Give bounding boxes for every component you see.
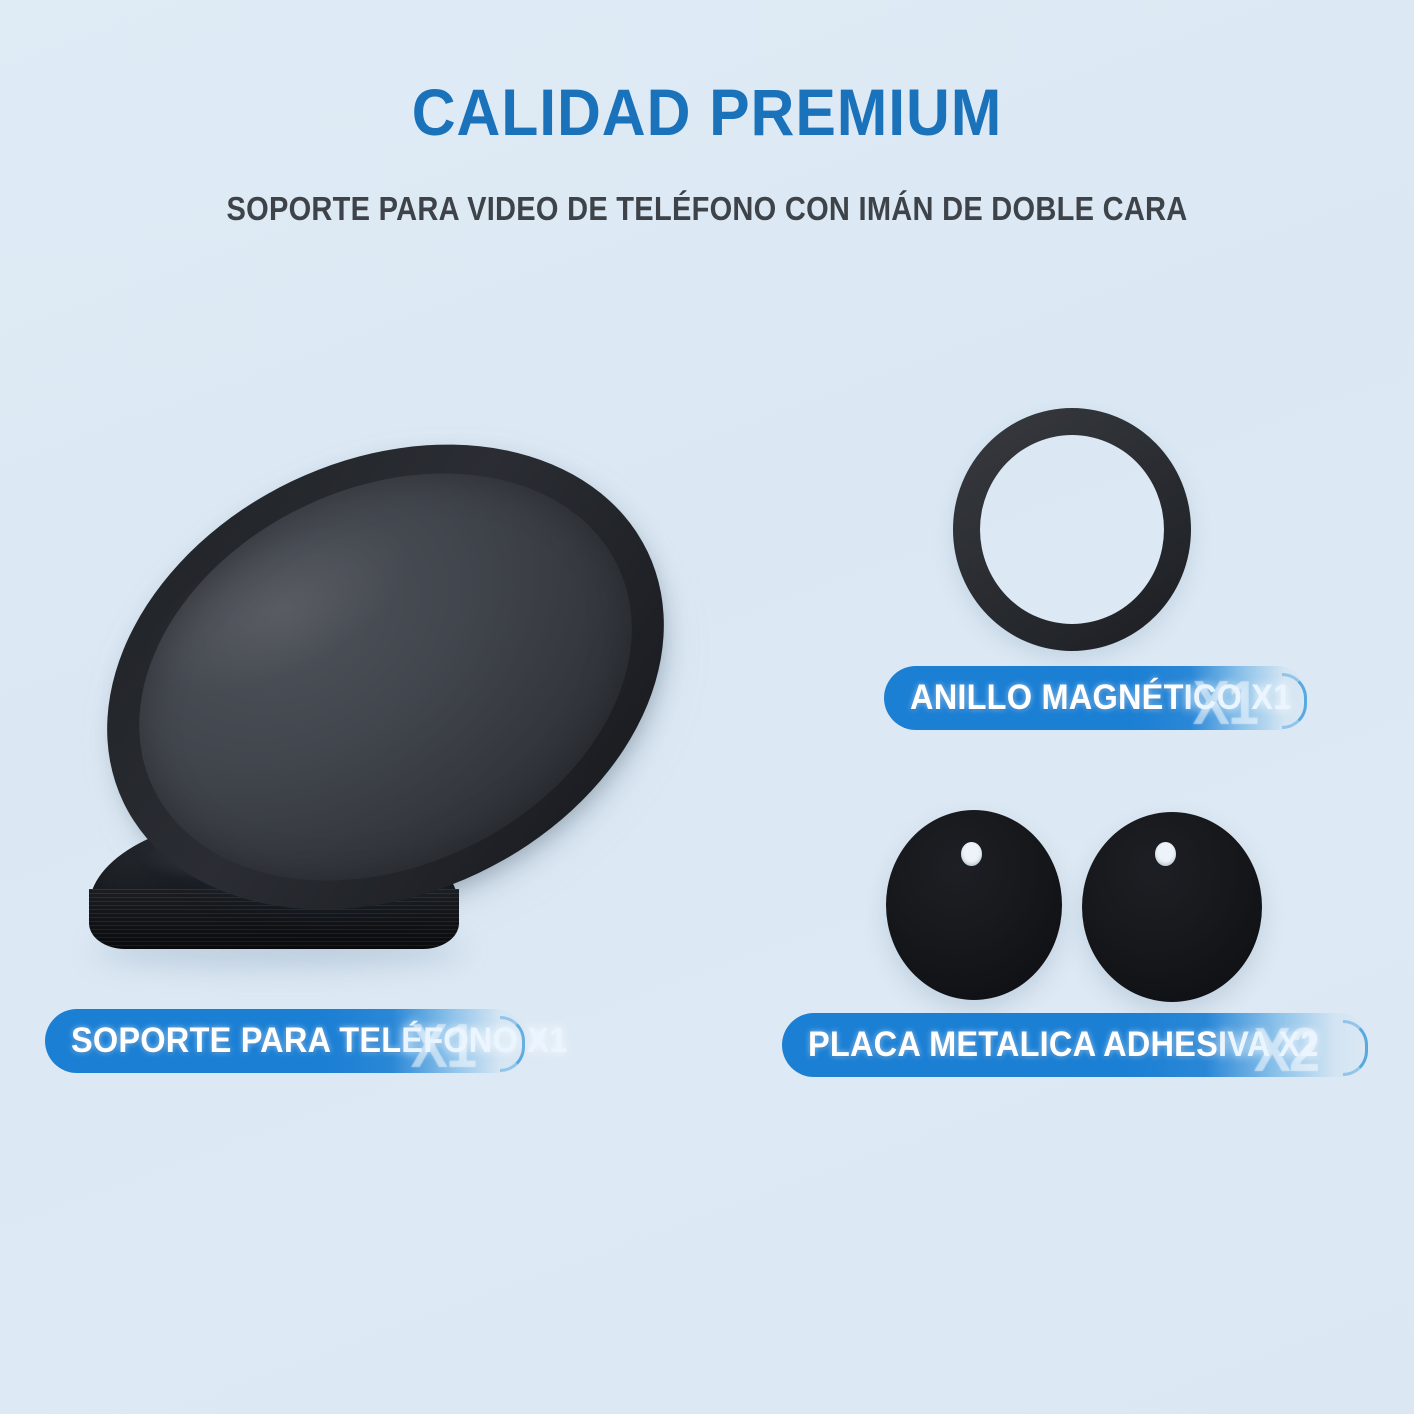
plate-hole-icon xyxy=(1155,842,1176,866)
magnetic-ring-illustration xyxy=(953,408,1191,651)
metal-plate-left xyxy=(886,810,1062,1000)
page-title: CALIDAD PREMIUM xyxy=(57,74,1358,150)
badge-label-phone-holder: SOPORTE PARA TELÉFONO X1 xyxy=(71,1021,567,1061)
badge-label-metal-plate: PLACA METALICA ADHESIVA X2 xyxy=(808,1025,1319,1065)
page-subtitle: SOPORTE PARA VIDEO DE TELÉFONO CON IMÁN … xyxy=(85,190,1329,228)
badge-phone-holder: X1 SOPORTE PARA TELÉFONO X1 xyxy=(45,1009,527,1073)
badge-magnetic-ring: X1 ANILLO MAGNÉTICO X1 xyxy=(884,666,1309,730)
phone-holder-illustration xyxy=(75,455,695,975)
badge-metal-plate: X2 PLACA METALICA ADHESIVA X2 xyxy=(782,1013,1370,1077)
plate-hole-icon xyxy=(961,842,982,866)
product-poster: CALIDAD PREMIUM SOPORTE PARA VIDEO DE TE… xyxy=(0,0,1414,1414)
badge-label-magnetic-ring: ANILLO MAGNÉTICO X1 xyxy=(910,678,1292,718)
metal-plate-right xyxy=(1082,812,1262,1002)
badge-end-cap-icon xyxy=(1343,1020,1368,1076)
